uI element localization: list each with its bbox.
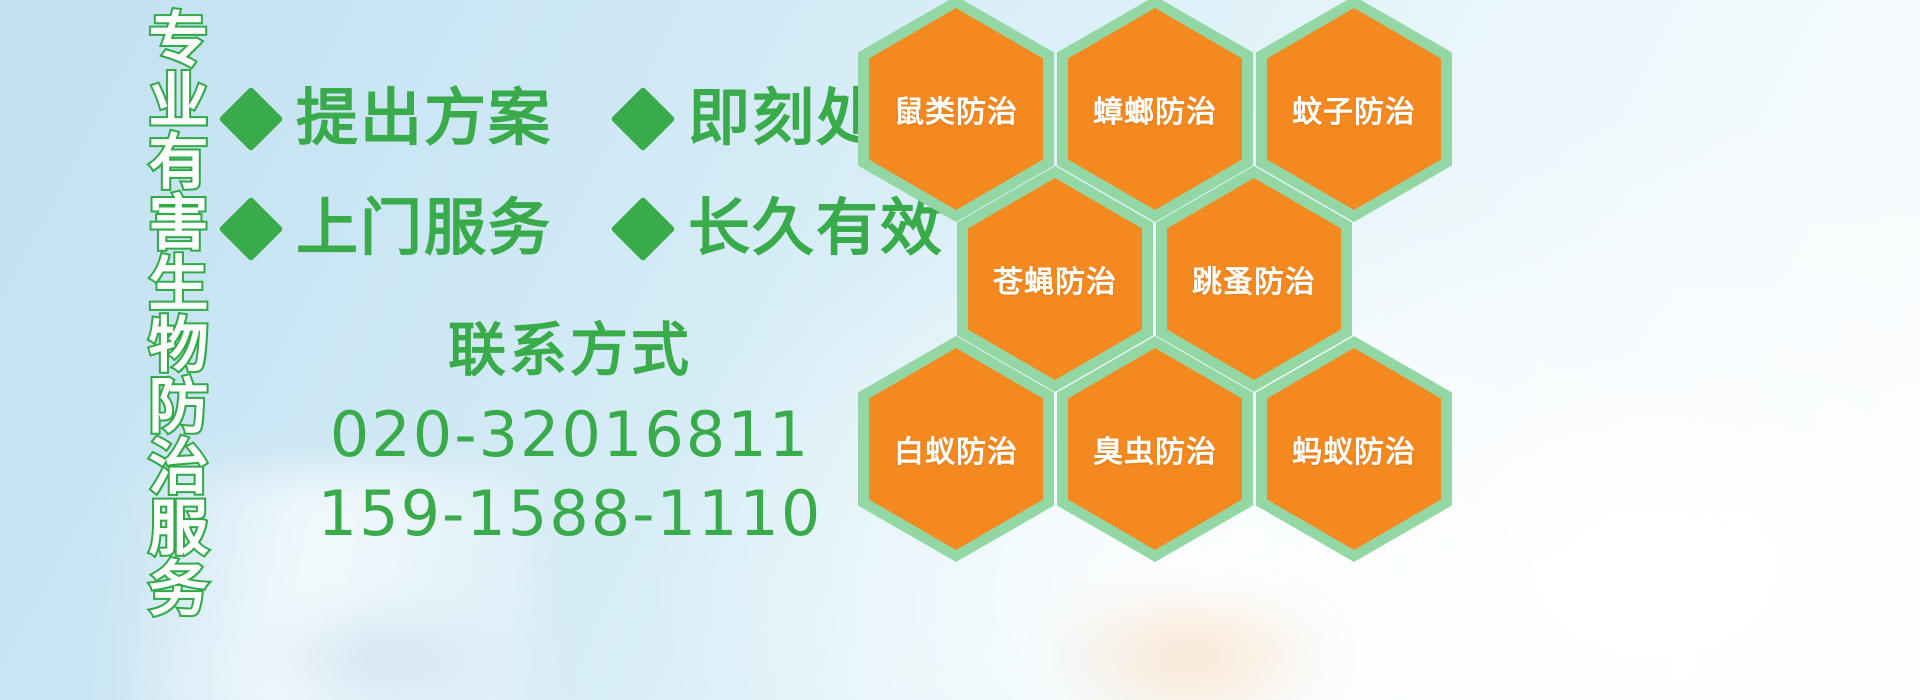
diamond-bullet-icon (610, 86, 675, 151)
service-hexagon-grid: 鼠类防治 蟑螂防治 蚊子防治 苍蝇防治 跳蚤防治 (852, 0, 1492, 700)
hex-label: 鼠类防治 (894, 87, 1018, 131)
diamond-bullet-icon (610, 196, 675, 261)
diamond-bullet-icon (218, 196, 283, 261)
hex-label: 蚊子防治 (1292, 87, 1416, 131)
hex-label: 跳蚤防治 (1192, 257, 1316, 301)
pest-control-banner: 专业有害生物防治服务 提出方案 即刻处理 上门服务 长久有效 联系方式 020-… (0, 0, 1920, 700)
hex-bedbug-control[interactable]: 臭虫防治 (1057, 336, 1253, 562)
hex-termite-control[interactable]: 白蚁防治 (858, 336, 1054, 562)
feature-item-door-service: 上门服务 (228, 198, 552, 260)
diamond-bullet-icon (218, 86, 283, 151)
background-blur-bottom-left (250, 600, 510, 700)
contact-block: 联系方式 020-32016811 159-1588-1110 (300, 318, 840, 553)
hex-label: 苍蝇防治 (993, 257, 1117, 301)
feature-row-top: 提出方案 即刻处理 (228, 88, 944, 150)
hex-label: 白蚁防治 (894, 427, 1018, 471)
feature-label: 提出方案 (296, 88, 552, 150)
contact-title: 联系方式 (300, 318, 840, 385)
hex-label: 臭虫防治 (1093, 427, 1217, 471)
hex-label: 蚂蚁防治 (1292, 427, 1416, 471)
vertical-headline: 专业有害生物防治服务 (108, 8, 204, 568)
phone-number-mobile[interactable]: 159-1588-1110 (300, 474, 840, 553)
hex-ant-control[interactable]: 蚂蚁防治 (1256, 336, 1452, 562)
phone-number-landline[interactable]: 020-32016811 (300, 395, 840, 474)
feature-item-propose-plan: 提出方案 (228, 88, 552, 150)
feature-row-bottom: 上门服务 长久有效 (228, 198, 944, 260)
background-blur-right (1470, 360, 1920, 700)
hex-label: 蟑螂防治 (1093, 87, 1217, 131)
feature-label: 上门服务 (296, 198, 552, 260)
